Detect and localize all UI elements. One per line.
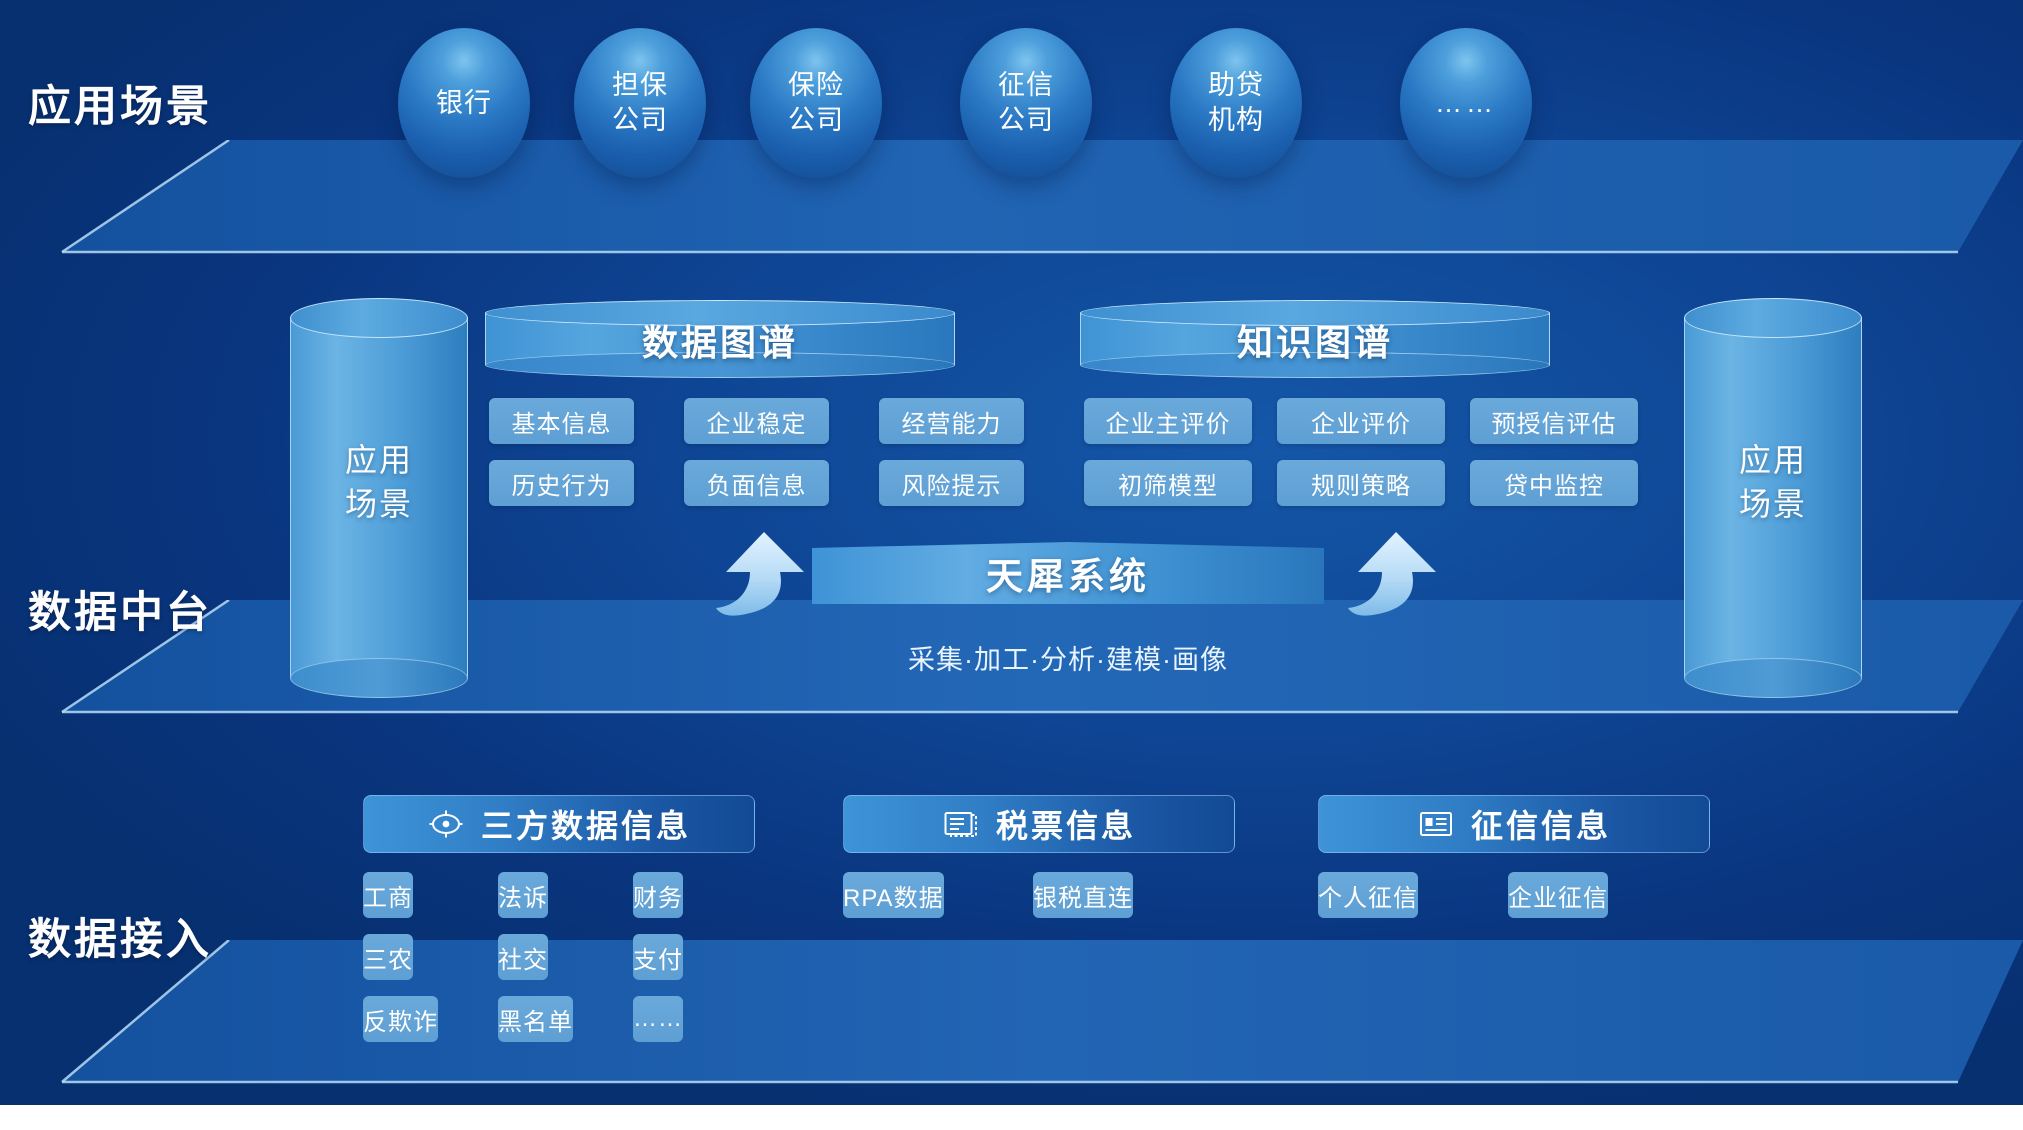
- arrow-up-right-icon: [1338, 528, 1448, 629]
- scenario-sphere-bank[interactable]: 银行: [398, 28, 530, 178]
- source-tag-personal-credit[interactable]: 个人征信: [1318, 872, 1418, 918]
- cylinder-bottom: [290, 658, 468, 698]
- source-header-credit-report[interactable]: 征信信息: [1318, 795, 1710, 853]
- knowledge-graph-chip-owner-rating[interactable]: 企业主评价: [1084, 398, 1252, 444]
- data-graph-chip-risk-alert[interactable]: 风险提示: [879, 460, 1024, 506]
- knowledge-graph-disc[interactable]: 知识图谱: [1080, 300, 1550, 378]
- layer-title-input: 数据接入: [28, 905, 212, 967]
- bottom-white-strip: [0, 1105, 2023, 1130]
- source-tag-rpa-data[interactable]: RPA数据: [843, 872, 944, 918]
- knowledge-graph-chip-company-rating[interactable]: 企业评价: [1277, 398, 1445, 444]
- source-tag-shejiao[interactable]: 社交: [498, 934, 548, 980]
- source-header-tax-invoice[interactable]: 税票信息: [843, 795, 1235, 853]
- tianxi-system-subtitle: 采集·加工·分析·建模·画像: [812, 638, 1324, 677]
- layer-title-application: 应用场景: [28, 72, 212, 134]
- cylinder-top: [290, 298, 468, 338]
- id-card-icon: [1417, 808, 1455, 840]
- knowledge-graph-title: 知识图谱: [1080, 314, 1550, 366]
- source-header-third-party[interactable]: 三方数据信息: [363, 795, 755, 853]
- source-tag-gongshang[interactable]: 工商: [363, 872, 413, 918]
- platform-input: [0, 940, 2023, 1090]
- target-icon: [427, 808, 465, 840]
- knowledge-graph-chip-screening-model[interactable]: 初筛模型: [1084, 460, 1252, 506]
- source-tag-fanqizha[interactable]: 反欺诈: [363, 996, 438, 1042]
- architecture-diagram: 应用场景 数据中台 数据接入 银行 担保公司 保险公司 征信公司 助贷机构 ………: [0, 0, 2023, 1130]
- data-graph-chip-stability[interactable]: 企业稳定: [684, 398, 829, 444]
- layer-title-middle: 数据中台: [28, 578, 212, 640]
- sphere-label-ellipsis: ……: [1435, 86, 1497, 121]
- scenario-sphere-credit-bureau[interactable]: 征信公司: [960, 28, 1092, 178]
- arrow-up-left-icon: [706, 528, 816, 629]
- scenario-sphere-guarantee[interactable]: 担保公司: [574, 28, 706, 178]
- cylinder-label: 应用场景: [290, 438, 468, 526]
- data-graph-chip-basic-info[interactable]: 基本信息: [489, 398, 634, 444]
- knowledge-graph-chip-rule-strategy[interactable]: 规则策略: [1277, 460, 1445, 506]
- data-graph-disc[interactable]: 数据图谱: [485, 300, 955, 378]
- knowledge-graph-chip-precredit-eval[interactable]: 预授信评估: [1470, 398, 1638, 444]
- tianxi-system-title: 天犀系统: [812, 542, 1324, 604]
- source-tag-bank-tax-link[interactable]: 银税直连: [1033, 872, 1133, 918]
- source-tag-sannong[interactable]: 三农: [363, 934, 413, 980]
- source-tag-fasu[interactable]: 法诉: [498, 872, 548, 918]
- source-tag-enterprise-credit[interactable]: 企业征信: [1508, 872, 1608, 918]
- sphere-label: 征信公司: [998, 68, 1054, 137]
- sphere-label: 保险公司: [788, 68, 844, 137]
- source-title: 三方数据信息: [481, 801, 691, 847]
- cylinder-top: [1684, 298, 1862, 338]
- source-tag-zhifu[interactable]: 支付: [633, 934, 683, 980]
- knowledge-graph-chip-loan-monitoring[interactable]: 贷中监控: [1470, 460, 1638, 506]
- sphere-label: 助贷机构: [1208, 68, 1264, 137]
- scenario-sphere-loan-facilitator[interactable]: 助贷机构: [1170, 28, 1302, 178]
- cylinder-bottom: [1684, 658, 1862, 698]
- source-title: 税票信息: [996, 801, 1136, 847]
- source-tag-caiwu[interactable]: 财务: [633, 872, 683, 918]
- sphere-label: 银行: [436, 86, 492, 121]
- scenario-sphere-more[interactable]: ……: [1400, 28, 1532, 178]
- scenario-sphere-insurance[interactable]: 保险公司: [750, 28, 882, 178]
- data-graph-chip-negative-info[interactable]: 负面信息: [684, 460, 829, 506]
- cylinder-left-application-scenario[interactable]: 应用场景: [290, 298, 468, 698]
- data-graph-chip-operating[interactable]: 经营能力: [879, 398, 1024, 444]
- cylinder-label: 应用场景: [1684, 438, 1862, 526]
- source-tag-heimingdan[interactable]: 黑名单: [498, 996, 573, 1042]
- data-graph-title: 数据图谱: [485, 314, 955, 366]
- tianxi-system-banner[interactable]: 天犀系统: [812, 542, 1324, 604]
- source-title: 征信信息: [1471, 801, 1611, 847]
- source-tag-more[interactable]: ……: [633, 996, 683, 1042]
- invoice-icon: [942, 808, 980, 840]
- sphere-label: 担保公司: [612, 68, 668, 137]
- cylinder-right-application-scenario[interactable]: 应用场景: [1684, 298, 1862, 698]
- data-graph-chip-history[interactable]: 历史行为: [489, 460, 634, 506]
